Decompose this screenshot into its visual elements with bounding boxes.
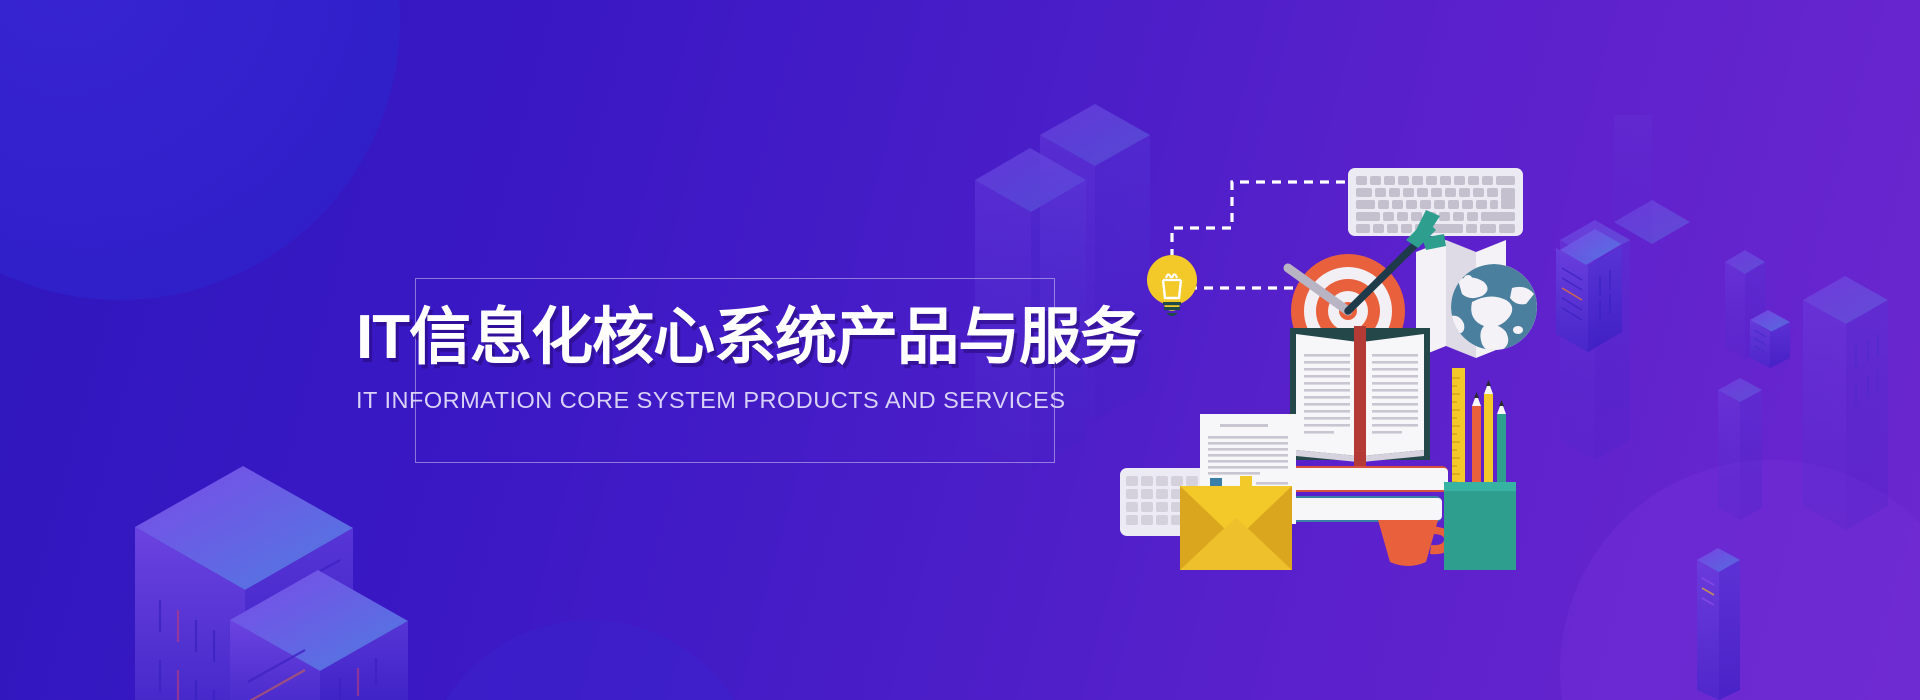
page-title: IT信息化核心系统产品与服务 bbox=[356, 307, 1096, 369]
building-right-2 bbox=[1556, 229, 1622, 352]
building-right-7 bbox=[1697, 548, 1740, 700]
keyboard-top-icon bbox=[1348, 168, 1523, 236]
hero-banner: IT信息化核心系统产品与服务 IT INFORMATION CORE SYSTE… bbox=[0, 0, 1920, 700]
lightbulb-icon bbox=[1147, 255, 1197, 316]
book-stack-icon bbox=[1278, 466, 1448, 522]
building-right-6 bbox=[1803, 276, 1888, 530]
headline-frame: IT信息化核心系统产品与服务 IT INFORMATION CORE SYSTE… bbox=[415, 278, 1055, 463]
pencil-yellow bbox=[1484, 380, 1493, 498]
page-subtitle: IT INFORMATION CORE SYSTEM PRODUCTS AND … bbox=[356, 389, 1096, 413]
pencil-holder-icon bbox=[1444, 368, 1516, 570]
coffee-cup-icon bbox=[1378, 520, 1452, 566]
open-book-icon bbox=[1290, 326, 1430, 482]
envelope-document-icon bbox=[1180, 414, 1296, 570]
building-right-3 bbox=[1614, 115, 1690, 244]
building-right-5 bbox=[1750, 310, 1790, 368]
hero-illustration bbox=[1120, 130, 1550, 570]
building-right-8 bbox=[1718, 378, 1762, 520]
